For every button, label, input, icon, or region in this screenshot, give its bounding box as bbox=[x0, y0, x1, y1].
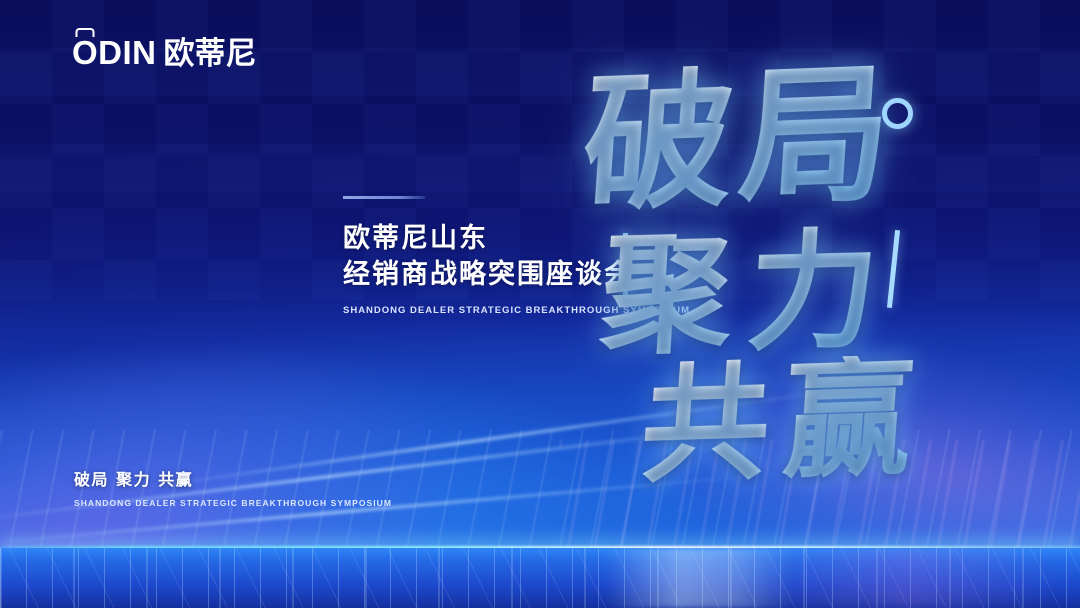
hero-line-gongying: 共赢 bbox=[637, 354, 931, 491]
footer-slogan-english: SHANDONG DEALER STRATEGIC BREAKTHROUGH S… bbox=[74, 498, 392, 508]
brand-logo-latin: ODIN bbox=[72, 36, 157, 69]
hero-calligraphy: 破局 聚力 共赢 bbox=[560, 50, 1030, 470]
brand-logo-chinese: 欧蒂尼 bbox=[164, 39, 257, 70]
footer-slogan-lockup: 破局 聚力 共赢 SHANDONG DEALER STRATEGIC BREAK… bbox=[74, 466, 392, 508]
brand-logo-latin-rest: DIN bbox=[98, 34, 156, 71]
footer-slogan-chinese: 破局 聚力 共赢 bbox=[74, 466, 392, 490]
hero-line-juli: 聚力 bbox=[598, 224, 899, 361]
stage-floor bbox=[0, 548, 1080, 608]
brand-logo: ODIN 欧蒂尼 bbox=[72, 36, 257, 70]
brand-logo-o-macron: O bbox=[72, 36, 98, 69]
floor-violet-tint bbox=[758, 548, 1058, 608]
title-divider-rule bbox=[343, 196, 425, 199]
hero-line-pojv: 破局 bbox=[578, 58, 901, 220]
degree-ring-icon bbox=[882, 98, 913, 129]
event-banner: ODIN 欧蒂尼 欧蒂尼山东 经销商战略突围座谈会 SHANDONG DEALE… bbox=[0, 0, 1080, 608]
